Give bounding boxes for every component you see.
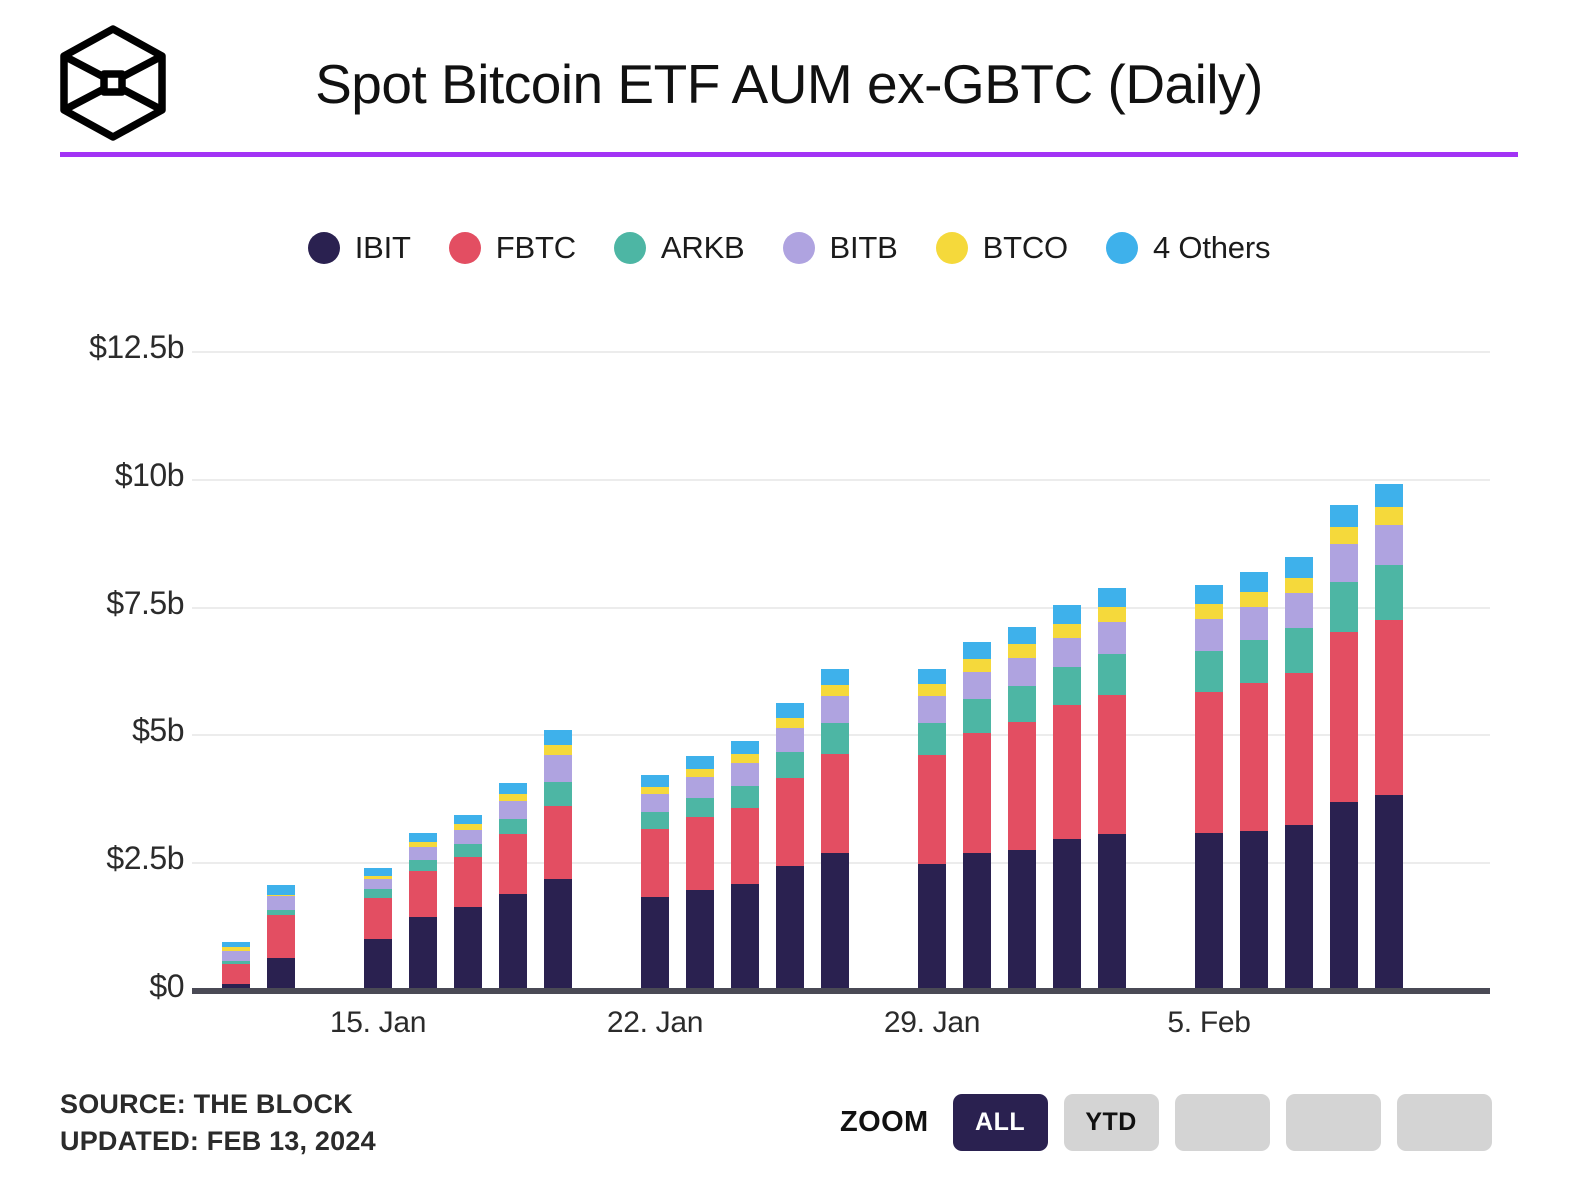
bar-segment-fbtc <box>1285 673 1313 825</box>
bar-segment-fbtc <box>1195 692 1223 833</box>
bar-segment-fbtc <box>731 808 759 885</box>
y-axis-tick-label: $10b <box>0 457 184 494</box>
bar-segment-ibit <box>963 853 991 990</box>
bar-segment-fbtc <box>364 898 392 939</box>
legend-item-label: BITB <box>830 230 898 266</box>
bar-segment-ibit <box>776 866 804 990</box>
bar-segment-arkb <box>918 723 946 756</box>
gridline <box>192 479 1490 481</box>
bar-segment-fbtc <box>776 778 804 866</box>
bar-segment-ibit <box>454 907 482 990</box>
bar-segment-ibit <box>731 884 759 990</box>
chart-bar[interactable] <box>1053 605 1081 990</box>
bar-segment-btco <box>1098 607 1126 622</box>
bar-segment-4-others <box>776 703 804 717</box>
chart-bar[interactable] <box>222 942 250 990</box>
bar-segment-btco <box>918 684 946 696</box>
y-axis-tick-label: $12.5b <box>0 329 184 366</box>
chart-legend: IBITFBTCARKBBITBBTCO4 Others <box>0 222 1578 274</box>
bar-segment-arkb <box>1285 628 1313 673</box>
bar-segment-arkb <box>686 798 714 817</box>
bar-segment-fbtc <box>821 754 849 853</box>
bar-segment-fbtc <box>222 964 250 984</box>
legend-item-label: BTCO <box>983 230 1068 266</box>
bar-segment-bitb <box>1053 638 1081 668</box>
legend-swatch-icon <box>783 232 815 264</box>
chart-bar[interactable] <box>364 868 392 990</box>
bar-segment-ibit <box>364 939 392 990</box>
bar-segment-fbtc <box>1098 695 1126 835</box>
bar-segment-btco <box>821 685 849 696</box>
y-axis-tick-label: $7.5b <box>0 585 184 622</box>
zoom-button-3[interactable] <box>1175 1094 1270 1151</box>
bar-segment-btco <box>963 659 991 672</box>
zoom-button-5[interactable] <box>1397 1094 1492 1151</box>
bar-segment-bitb <box>364 879 392 889</box>
legend-item-bitb[interactable]: BITB <box>783 230 898 266</box>
legend-item-btco[interactable]: BTCO <box>936 230 1068 266</box>
chart-bar[interactable] <box>454 815 482 990</box>
bar-segment-btco <box>641 787 669 794</box>
chart-bar[interactable] <box>963 642 991 990</box>
x-axis-tick-label: 5. Feb <box>1167 1006 1250 1040</box>
bar-segment-bitb <box>1008 658 1036 687</box>
chart-bar[interactable] <box>1098 588 1126 990</box>
source-line: SOURCE: THE BLOCK <box>60 1086 376 1123</box>
chart-bar[interactable] <box>544 730 572 990</box>
bar-segment-fbtc <box>1008 722 1036 850</box>
legend-item-label: FBTC <box>496 230 576 266</box>
bar-segment-ibit <box>918 864 946 990</box>
chart-bar[interactable] <box>776 703 804 990</box>
bar-segment-ibit <box>641 897 669 990</box>
chart-bar[interactable] <box>641 775 669 990</box>
x-axis-tick-label: 15. Jan <box>330 1006 426 1040</box>
bar-segment-4-others <box>821 669 849 685</box>
bar-segment-fbtc <box>1240 683 1268 830</box>
bar-segment-arkb <box>1098 654 1126 695</box>
bar-segment-btco <box>731 754 759 763</box>
updated-line: UPDATED: FEB 13, 2024 <box>60 1123 376 1160</box>
bar-segment-btco <box>1285 578 1313 594</box>
y-axis-tick-label: $0 <box>0 968 184 1005</box>
bar-segment-bitb <box>918 696 946 723</box>
bar-segment-bitb <box>1240 607 1268 640</box>
bar-segment-ibit <box>544 879 572 990</box>
bar-segment-bitb <box>1330 544 1358 582</box>
bar-segment-bitb <box>1375 525 1403 565</box>
chart-bar[interactable] <box>821 669 849 990</box>
bar-segment-arkb <box>776 752 804 778</box>
chart-bar[interactable] <box>731 741 759 990</box>
chart-bar[interactable] <box>918 669 946 990</box>
bar-segment-btco <box>1330 527 1358 544</box>
bar-segment-4-others <box>963 642 991 659</box>
bar-segment-btco <box>1375 507 1403 525</box>
bar-segment-arkb <box>1240 640 1268 683</box>
bar-segment-fbtc <box>544 806 572 879</box>
chart-bar[interactable] <box>267 885 295 990</box>
bar-segment-bitb <box>776 728 804 753</box>
bar-segment-fbtc <box>963 733 991 853</box>
bar-segment-ibit <box>1098 834 1126 990</box>
bar-segment-ibit <box>1053 839 1081 990</box>
bar-segment-arkb <box>364 889 392 898</box>
bar-segment-ibit <box>1285 825 1313 990</box>
bar-segment-arkb <box>641 812 669 829</box>
bar-segment-ibit <box>1330 802 1358 990</box>
x-axis-line <box>192 988 1490 994</box>
chart-bar[interactable] <box>1285 557 1313 990</box>
legend-swatch-icon <box>1106 232 1138 264</box>
bar-segment-bitb <box>454 830 482 844</box>
chart-bar[interactable] <box>1330 505 1358 990</box>
legend-item-arkb[interactable]: ARKB <box>614 230 745 266</box>
bar-segment-4-others <box>1195 585 1223 604</box>
bar-segment-fbtc <box>686 817 714 890</box>
bar-segment-bitb <box>267 896 295 910</box>
bar-segment-4-others <box>454 815 482 825</box>
bar-segment-4-others <box>686 756 714 768</box>
chart-header: Spot Bitcoin ETF AUM ex-GBTC (Daily) <box>0 0 1578 158</box>
bar-segment-fbtc <box>454 857 482 907</box>
legend-item-label: ARKB <box>661 230 745 266</box>
bar-segment-bitb <box>544 755 572 782</box>
zoom-button-all[interactable]: ALL <box>953 1094 1048 1151</box>
bar-segment-fbtc <box>1330 632 1358 802</box>
bar-segment-bitb <box>1195 619 1223 651</box>
chart-bar[interactable] <box>1195 585 1223 990</box>
bar-segment-arkb <box>454 844 482 857</box>
legend-swatch-icon <box>936 232 968 264</box>
bar-segment-4-others <box>499 783 527 794</box>
zoom-button-ytd[interactable]: YTD <box>1064 1094 1159 1151</box>
zoom-controls: ZOOM ALLYTD <box>840 1094 1492 1151</box>
bar-segment-ibit <box>267 958 295 990</box>
bar-segment-arkb <box>544 782 572 806</box>
legend-item-fbtc[interactable]: FBTC <box>449 230 576 266</box>
zoom-label: ZOOM <box>840 1106 929 1139</box>
bar-segment-4-others <box>1240 572 1268 592</box>
bar-segment-bitb <box>499 801 527 819</box>
x-axis-tick-label: 22. Jan <box>607 1006 703 1040</box>
bar-segment-bitb <box>1098 622 1126 654</box>
y-axis-tick-label: $5b <box>0 712 184 749</box>
bar-segment-btco <box>686 769 714 777</box>
bar-segment-ibit <box>1008 850 1036 990</box>
bar-segment-bitb <box>821 696 849 723</box>
bar-segment-fbtc <box>409 871 437 917</box>
y-axis-tick-label: $2.5b <box>0 840 184 877</box>
bar-segment-arkb <box>409 860 437 871</box>
bar-segment-ibit <box>409 917 437 990</box>
gridline <box>192 351 1490 353</box>
bar-segment-ibit <box>1195 833 1223 990</box>
bar-segment-btco <box>1195 604 1223 619</box>
chart-bar[interactable] <box>409 833 437 990</box>
bar-segment-btco <box>544 745 572 756</box>
chart-bar[interactable] <box>499 783 527 991</box>
bar-segment-4-others <box>731 741 759 754</box>
bar-segment-fbtc <box>1375 620 1403 795</box>
bar-segment-btco <box>1240 592 1268 607</box>
bar-segment-arkb <box>731 786 759 808</box>
bar-segment-ibit <box>499 894 527 990</box>
x-axis-tick-label: 29. Jan <box>884 1006 980 1040</box>
legend-item-ibit[interactable]: IBIT <box>308 230 411 266</box>
bar-segment-4-others <box>1285 557 1313 577</box>
bar-segment-bitb <box>222 951 250 962</box>
bar-segment-fbtc <box>499 834 527 894</box>
bar-segment-ibit <box>686 890 714 990</box>
legend-item-4-others[interactable]: 4 Others <box>1106 230 1270 266</box>
bar-segment-bitb <box>963 672 991 700</box>
source-credit: SOURCE: THE BLOCK UPDATED: FEB 13, 2024 <box>60 1086 376 1160</box>
bar-segment-4-others <box>1098 588 1126 607</box>
bar-segment-btco <box>1053 624 1081 638</box>
bar-segment-4-others <box>409 833 437 842</box>
bar-segment-bitb <box>731 763 759 785</box>
bar-segment-4-others <box>641 775 669 786</box>
bar-segment-fbtc <box>918 755 946 863</box>
chart-plot-area <box>192 300 1490 990</box>
chart-bar[interactable] <box>1240 572 1268 990</box>
bar-segment-ibit <box>1240 831 1268 990</box>
bar-segment-fbtc <box>267 915 295 958</box>
legend-swatch-icon <box>614 232 646 264</box>
chart-bar[interactable] <box>1008 627 1036 990</box>
bar-segment-4-others <box>1008 627 1036 645</box>
bar-segment-ibit <box>1375 795 1403 990</box>
page-title: Spot Bitcoin ETF AUM ex-GBTC (Daily) <box>0 46 1578 122</box>
chart-bar[interactable] <box>1375 484 1403 990</box>
bar-segment-arkb <box>1375 565 1403 620</box>
bar-segment-arkb <box>1195 651 1223 692</box>
bar-segment-4-others <box>544 730 572 744</box>
bar-segment-bitb <box>409 847 437 860</box>
bar-segment-fbtc <box>641 829 669 897</box>
bar-segment-4-others <box>267 885 295 895</box>
zoom-button-4[interactable] <box>1286 1094 1381 1151</box>
bar-segment-arkb <box>1008 686 1036 722</box>
bar-segment-4-others <box>1375 484 1403 507</box>
bar-segment-ibit <box>821 853 849 990</box>
bar-segment-bitb <box>686 777 714 798</box>
legend-item-label: 4 Others <box>1153 230 1270 266</box>
bar-segment-4-others <box>918 669 946 685</box>
bar-segment-fbtc <box>1053 705 1081 839</box>
chart-bar[interactable] <box>686 756 714 990</box>
bar-segment-arkb <box>499 819 527 834</box>
bar-segment-btco <box>1008 644 1036 657</box>
legend-item-label: IBIT <box>355 230 411 266</box>
legend-swatch-icon <box>308 232 340 264</box>
legend-swatch-icon <box>449 232 481 264</box>
bar-segment-arkb <box>1330 582 1358 632</box>
bar-segment-bitb <box>1285 593 1313 628</box>
bar-segment-arkb <box>963 699 991 733</box>
bar-segment-4-others <box>364 868 392 876</box>
bar-segment-btco <box>776 718 804 728</box>
bar-segment-4-others <box>1053 605 1081 623</box>
bar-segment-4-others <box>1330 505 1358 527</box>
bar-segment-btco <box>499 794 527 801</box>
bar-segment-arkb <box>1053 667 1081 704</box>
header-divider <box>60 152 1518 157</box>
bar-segment-arkb <box>821 723 849 755</box>
bar-segment-bitb <box>641 794 669 812</box>
